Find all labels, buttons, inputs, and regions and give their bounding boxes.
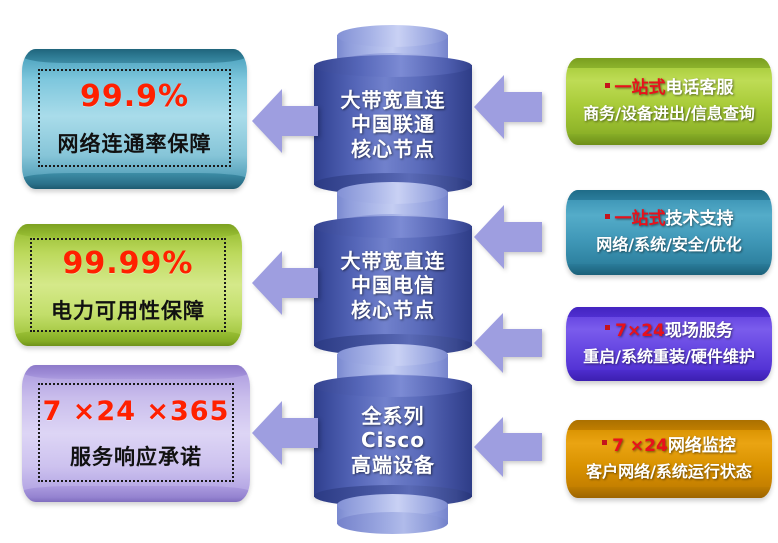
cylinder-side — [314, 226, 472, 346]
bullet-square-icon — [605, 325, 610, 330]
cylinder-side — [314, 65, 472, 185]
headline-highlight: 一站式 — [615, 78, 666, 98]
bullet-square-icon — [602, 440, 607, 445]
card-subtext: 商务/设备进出/信息查询 — [583, 105, 755, 122]
card-headline: 一站式技术支持 — [605, 211, 734, 229]
cylinder-cap — [337, 25, 448, 47]
card-subtext: 重启/系统重装/硬件维护 — [583, 348, 755, 365]
cylinder-side — [314, 385, 472, 497]
card-headline: 7 ×24网络监控 — [602, 438, 736, 456]
cylinder-cap — [314, 375, 472, 397]
drum-bottom-rim — [22, 173, 247, 189]
card-text: 一站式电话客服 商务/设备进出/信息查询 — [570, 58, 768, 145]
bullet-square-icon — [605, 83, 610, 88]
metric-value: 99.9% — [80, 82, 189, 112]
metric-caption: 网络连通率保障 — [58, 134, 212, 155]
left-card-response-commitment[interactable]: 7 ×24 ×365 服务响应承诺 — [22, 365, 250, 502]
left-card-power-availability[interactable]: 99.99% 电力可用性保障 — [14, 224, 242, 346]
center-node-unicom[interactable] — [314, 55, 472, 195]
arrow-to-power-availability — [252, 248, 318, 318]
center-node-telecom[interactable] — [314, 216, 472, 356]
dashed-frame: 99.9% 网络连通率保障 — [38, 69, 231, 167]
arrow-to-response-commitment — [252, 398, 318, 468]
metric-value: 7 ×24 ×365 — [43, 398, 230, 425]
arrow-from-phone-service — [474, 72, 542, 142]
center-connector-bottom — [337, 494, 448, 534]
metric-caption: 电力可用性保障 — [51, 301, 205, 322]
card-text: 7 ×24网络监控 客户网络/系统运行状态 — [584, 420, 754, 498]
drum-bottom-rim — [14, 330, 242, 346]
cylinder-cap — [314, 216, 472, 238]
headline-rest: 电话客服 — [666, 78, 734, 98]
right-card-onsite-service[interactable]: 7×24现场服务 重启/系统重装/硬件维护 — [566, 307, 772, 381]
arrow-from-onsite-service — [474, 310, 542, 376]
left-card-network-availability[interactable]: 99.9% 网络连通率保障 — [22, 49, 247, 189]
headline-highlight: 7×24 — [615, 321, 665, 341]
card-text: 7×24现场服务 重启/系统重装/硬件维护 — [570, 307, 768, 381]
drum-top-rim — [22, 49, 247, 63]
drum-bottom-rim — [22, 486, 250, 502]
right-card-tech-support[interactable]: 一站式技术支持 网络/系统/安全/优化 — [566, 190, 772, 275]
dashed-frame: 7 ×24 ×365 服务响应承诺 — [38, 383, 234, 482]
right-card-phone-service[interactable]: 一站式电话客服 商务/设备进出/信息查询 — [566, 58, 772, 145]
arrow-from-network-monitoring — [474, 414, 542, 480]
arrow-to-network-availability — [252, 86, 318, 156]
headline-rest: 技术支持 — [666, 209, 734, 229]
metric-value: 99.99% — [63, 249, 194, 279]
card-headline: 一站式电话客服 — [605, 80, 734, 98]
center-node-cisco[interactable] — [314, 375, 472, 507]
diagram-canvas: 99.9% 网络连通率保障 99.99% 电力可用性保障 7 ×24 ×365 … — [0, 0, 778, 543]
bullet-square-icon — [605, 214, 610, 219]
headline-rest: 现场服务 — [665, 321, 733, 341]
arrow-from-tech-support — [474, 202, 542, 272]
card-subtext: 客户网络/系统运行状态 — [586, 463, 752, 480]
drum-top-rim — [22, 365, 250, 379]
dashed-frame: 99.99% 电力可用性保障 — [30, 238, 226, 332]
card-text: 一站式技术支持 网络/系统/安全/优化 — [570, 190, 768, 275]
right-card-network-monitoring[interactable]: 7 ×24网络监控 客户网络/系统运行状态 — [566, 420, 772, 498]
headline-highlight: 一站式 — [615, 209, 666, 229]
cylinder-foot — [337, 512, 448, 534]
headline-highlight: 7 ×24 — [612, 436, 668, 456]
drum-top-rim — [14, 224, 242, 238]
card-headline: 7×24现场服务 — [605, 323, 733, 341]
cylinder-cap — [337, 182, 448, 204]
headline-rest: 网络监控 — [668, 436, 736, 456]
card-subtext: 网络/系统/安全/优化 — [596, 236, 742, 253]
cylinder-cap — [337, 344, 448, 366]
metric-caption: 服务响应承诺 — [70, 447, 202, 468]
cylinder-cap — [314, 55, 472, 77]
